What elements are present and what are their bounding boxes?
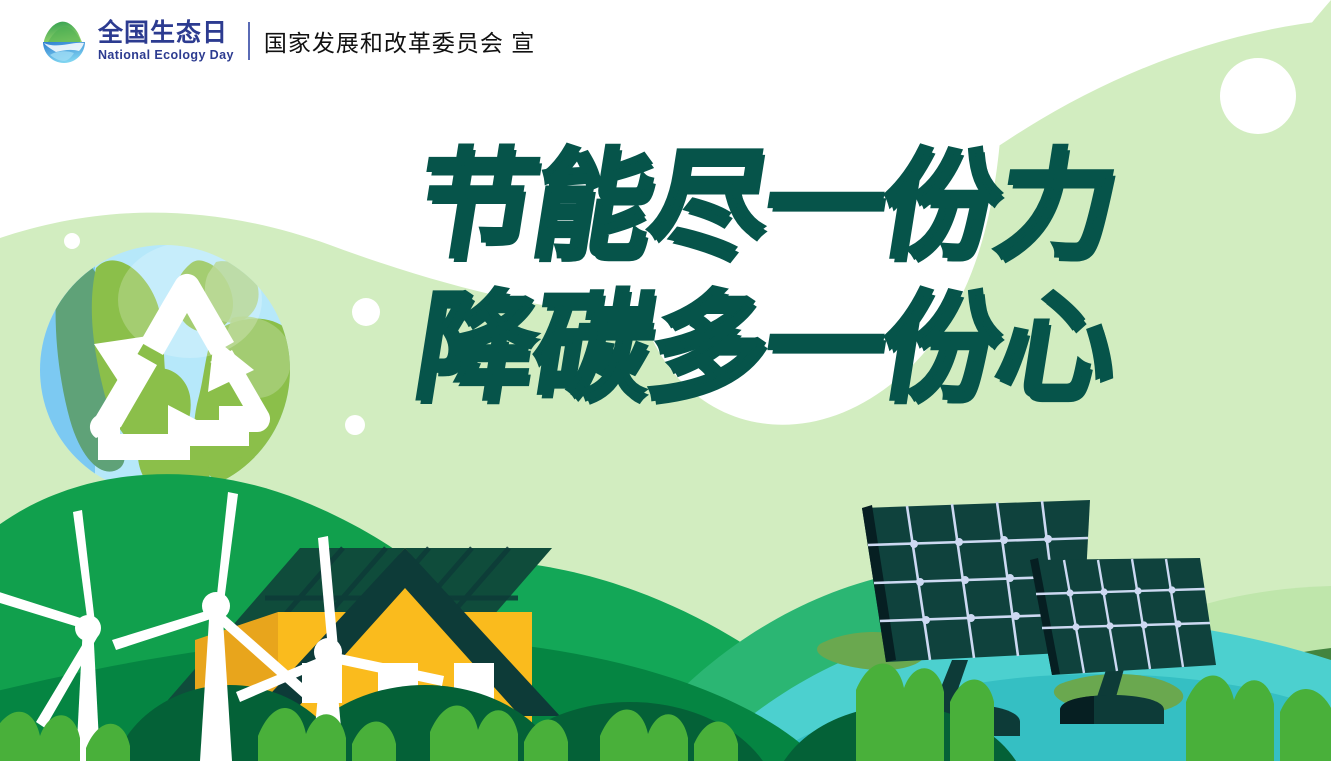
logo-title-en: National Ecology Day [98,49,234,62]
ecology-day-emblem-icon [38,15,90,67]
logo-title-cn: 全国生态日 [98,21,234,46]
headline-block: 节能尽一份力 降碳多一份心 [418,138,1114,414]
header-divider [248,22,250,60]
logo-text-block: 全国生态日 National Ecology Day [98,21,234,62]
headline-line-2: 降碳多一份心 [407,280,1124,414]
decor-dot-1 [64,233,80,249]
headline-line-1: 节能尽一份力 [407,138,1124,272]
poster-root: 全国生态日 National Ecology Day 国家发展和改革委员会 宣 … [0,0,1331,761]
decor-dot-2 [352,298,380,326]
issuing-agency-label: 国家发展和改革委员会 宣 [264,24,535,58]
decor-circle-large [1220,58,1296,134]
decor-dot-4 [755,17,771,33]
decor-dot-3 [345,415,365,435]
solar-small-face [1030,558,1216,675]
poster-header: 全国生态日 National Ecology Day 国家发展和改革委员会 宣 [38,16,535,66]
